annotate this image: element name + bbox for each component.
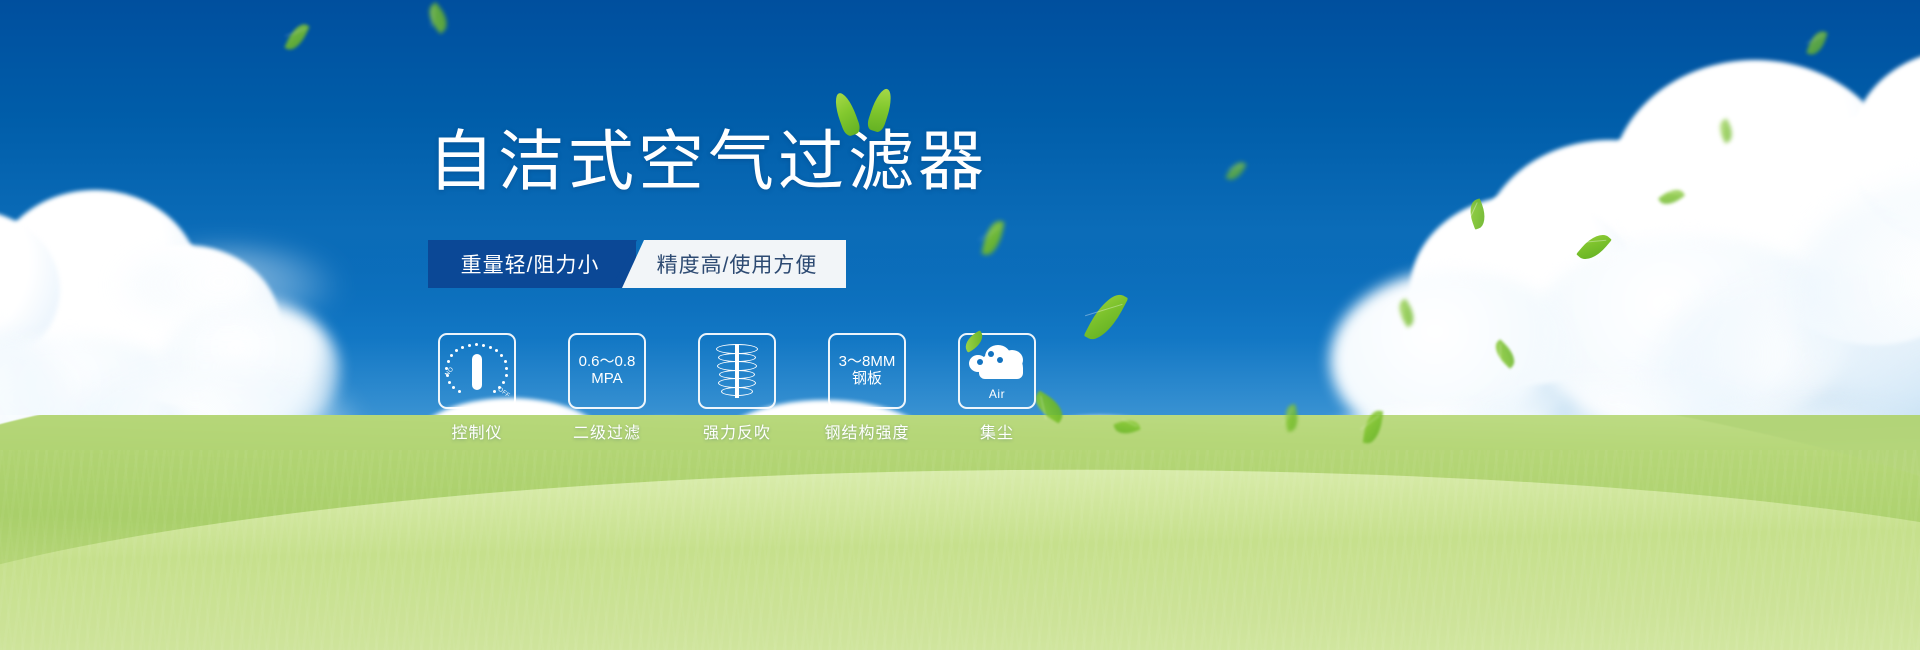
- feature-item-controller[interactable]: NO OFF 控制仪: [438, 333, 516, 443]
- title-block: 自洁式空气过滤器: [428, 128, 988, 194]
- pressure-text-icon: 0.6～0.8 MPA: [579, 354, 636, 388]
- feature-tabs: 重量轻/阻力小 精度高/使用方便: [428, 240, 846, 288]
- leaf-icon: [961, 330, 987, 353]
- tab-label: 重量轻/阻力小: [461, 249, 600, 279]
- leaf-icon: [831, 90, 862, 137]
- steel-text-icon: 3～8MM 钢板: [839, 354, 896, 388]
- feature-caption: 集尘: [980, 419, 1014, 443]
- leaf-icon: [866, 86, 896, 133]
- feature-caption: 二级过滤: [573, 419, 641, 443]
- air-label: Air: [967, 387, 1027, 401]
- tab-precision-easyuse[interactable]: 精度高/使用方便: [622, 240, 846, 288]
- dial-gauge-icon: NO OFF: [446, 342, 508, 400]
- product-banner: 自洁式空气过滤器 重量轻/阻力小 精度高/使用方便: [0, 0, 1920, 650]
- feature-icon-box: [698, 333, 776, 409]
- title-leaves-decoration: [832, 86, 912, 142]
- coil-stack-icon: [711, 342, 763, 400]
- feature-item-strong-blowback[interactable]: 强力反吹: [698, 333, 776, 443]
- feature-caption: 强力反吹: [703, 419, 771, 443]
- feature-icon-box: NO OFF: [438, 333, 516, 409]
- feature-list: NO OFF 控制仪 0.6～0.8 MPA 二级过滤: [438, 333, 1036, 443]
- feature-icon-box: Air: [958, 333, 1036, 409]
- dial-off-label: OFF: [496, 387, 510, 400]
- feature-item-dust-collection[interactable]: Air 集尘: [958, 333, 1036, 443]
- feature-icon-box: 3～8MM 钢板: [828, 333, 906, 409]
- banner-content: 自洁式空气过滤器 重量轻/阻力小 精度高/使用方便: [0, 0, 1920, 650]
- feature-item-two-stage-filter[interactable]: 0.6～0.8 MPA 二级过滤: [568, 333, 646, 443]
- feature-item-steel-strength[interactable]: 3～8MM 钢板 钢结构强度: [828, 333, 906, 443]
- air-cloud-icon: Air: [967, 343, 1027, 399]
- feature-icon-box: 0.6～0.8 MPA: [568, 333, 646, 409]
- tab-label: 精度高/使用方便: [657, 249, 818, 279]
- feature-caption: 控制仪: [451, 419, 502, 443]
- feature-caption: 钢结构强度: [825, 419, 910, 443]
- dial-needle: [472, 354, 482, 390]
- tab-lightweight-lowresistance[interactable]: 重量轻/阻力小: [428, 240, 636, 288]
